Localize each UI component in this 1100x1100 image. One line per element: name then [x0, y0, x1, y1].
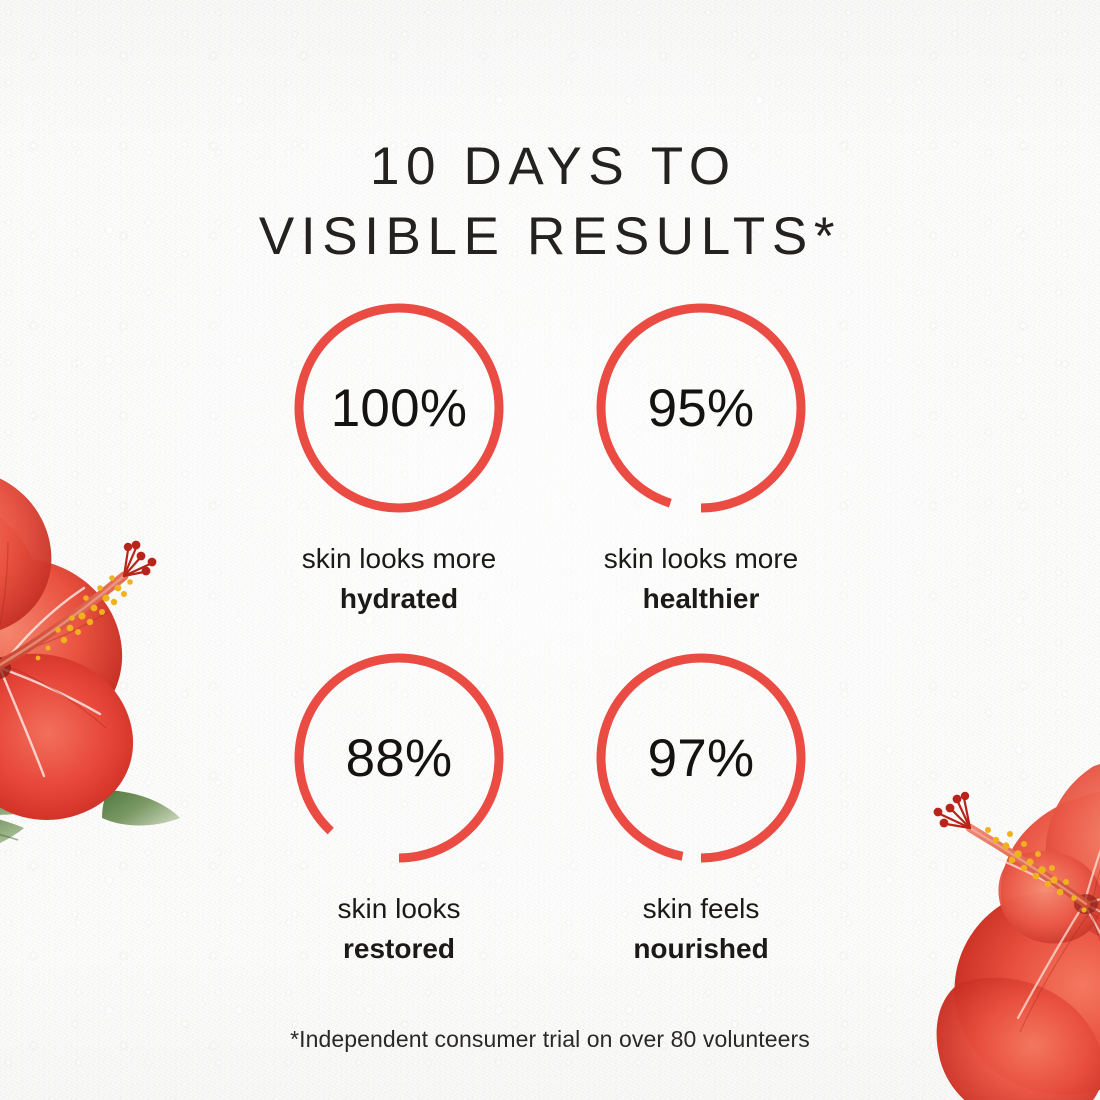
stat-card-healthier: 95% skin looks more healthier — [550, 300, 852, 650]
stat-caption-hydrated: skin looks more hydrated — [302, 540, 497, 617]
stat-value-restored: 88% — [291, 650, 507, 866]
stat-caption-line2: restored — [338, 930, 461, 968]
hibiscus-left-leaves — [0, 768, 180, 858]
stat-caption-line1: skin looks more — [302, 540, 497, 578]
stat-card-hydrated: 100% skin looks more hydrated — [248, 300, 550, 650]
stat-caption-nourished: skin feels nourished — [633, 890, 768, 967]
stat-caption-line2: nourished — [633, 930, 768, 968]
stat-caption-line2: healthier — [604, 580, 799, 618]
stat-caption-line1: skin feels — [633, 890, 768, 928]
hibiscus-left-petals — [0, 472, 133, 820]
stats-grid: 100% skin looks more hydrated 95% skin l… — [248, 300, 852, 1000]
stat-caption-line1: skin looks more — [604, 540, 799, 578]
stat-value-healthier: 95% — [593, 300, 809, 516]
progress-ring-nourished: 97% — [593, 650, 809, 866]
stat-caption-line2: hydrated — [302, 580, 497, 618]
hibiscus-right-stamen — [934, 792, 1087, 913]
stat-value-nourished: 97% — [593, 650, 809, 866]
progress-ring-restored: 88% — [291, 650, 507, 866]
hibiscus-left-stamen — [0, 541, 156, 666]
stat-caption-line1: skin looks — [338, 890, 461, 928]
page-title: 10 DAYS TO VISIBLE RESULTS* — [0, 132, 1100, 273]
stat-caption-restored: skin looks restored — [338, 890, 461, 967]
hibiscus-flower-left — [0, 472, 222, 872]
results-infographic: 10 DAYS TO VISIBLE RESULTS* 100% skin lo… — [0, 0, 1100, 1100]
stat-card-nourished: 97% skin feels nourished — [550, 650, 852, 1000]
stat-value-hydrated: 100% — [291, 300, 507, 516]
stat-card-restored: 88% skin looks restored — [248, 650, 550, 1000]
stat-caption-healthier: skin looks more healthier — [604, 540, 799, 617]
progress-ring-healthier: 95% — [593, 300, 809, 516]
footnote-disclaimer: *Independent consumer trial on over 80 v… — [0, 1026, 1100, 1053]
progress-ring-hydrated: 100% — [291, 300, 507, 516]
